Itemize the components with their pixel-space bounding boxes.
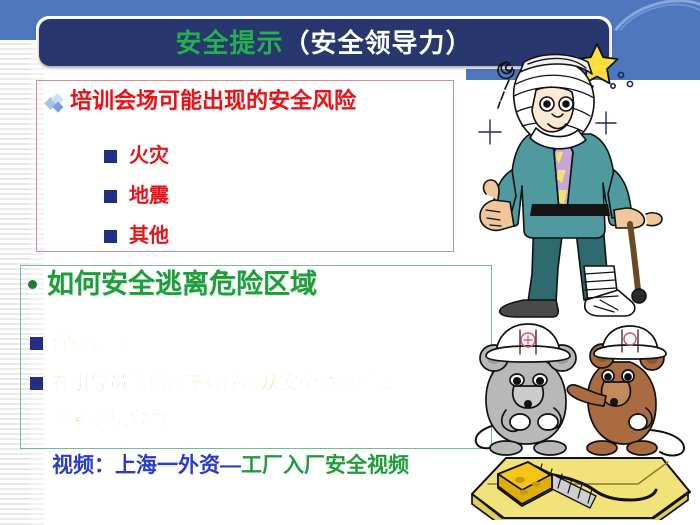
title-green-text: 安全提示 [175, 28, 283, 58]
square-bullet-icon [104, 190, 117, 203]
risk-item-label: 火灾 [129, 146, 169, 166]
title-white-text: （安全领导力） [284, 28, 473, 58]
square-bullet-icon [30, 337, 43, 350]
slide-canvas: 安全提示（安全领导力） 培训会场可能出现的安全风险 火灾 地震 其他 如何安全逃… [0, 0, 700, 525]
risk-heading-row: 培训会场可能出现的安全风险 [46, 88, 446, 113]
dot-bullet-icon [28, 280, 37, 289]
video-line-blue-text: 视频：上海一外资— [52, 454, 241, 477]
bandaged-man-clipart [478, 28, 696, 318]
square-bullet-icon [104, 150, 117, 163]
risk-item-label: 地震 [129, 186, 169, 206]
escape-item-label: 保持镇静 [52, 331, 128, 357]
risk-item-label: 其他 [129, 226, 169, 246]
video-line-green-text: 工厂入厂安全视频 [241, 454, 409, 477]
escape-item-prefix: 在 [52, 373, 71, 394]
video-reference-line[interactable]: 视频：上海一外资—工厂入厂安全视频 [52, 455, 409, 476]
escape-item-rest: 的指挥下有序地从安全通道疏散 [128, 373, 394, 394]
escape-item-continuation: 到紧急集合点 [53, 406, 167, 432]
escape-item-highlight: 引导员 [71, 373, 128, 394]
escape-heading-label: 如何安全逃离危险区域 [47, 270, 317, 300]
square-bullet-icon [104, 230, 117, 243]
background-blue-left-corner [0, 0, 36, 40]
page-title: 安全提示（安全领导力） [175, 30, 472, 56]
diamond-bullet-icon [46, 95, 63, 112]
mice-mousetrap-clipart [462, 312, 700, 520]
square-bullet-icon [30, 377, 43, 390]
escape-list-item: 保持镇静 [30, 331, 128, 357]
escape-heading-row: 如何安全逃离危险区域 [28, 270, 317, 300]
risk-list-item: 地震 [104, 186, 169, 206]
risk-list-item: 其他 [104, 226, 169, 246]
escape-list-item: 在引导员的指挥下有序地从安全通道疏散 [30, 371, 394, 397]
risk-list-item: 火灾 [104, 146, 169, 166]
risk-heading-label: 培训会场可能出现的安全风险 [70, 88, 356, 113]
escape-item-label: 在引导员的指挥下有序地从安全通道疏散 [52, 371, 394, 397]
